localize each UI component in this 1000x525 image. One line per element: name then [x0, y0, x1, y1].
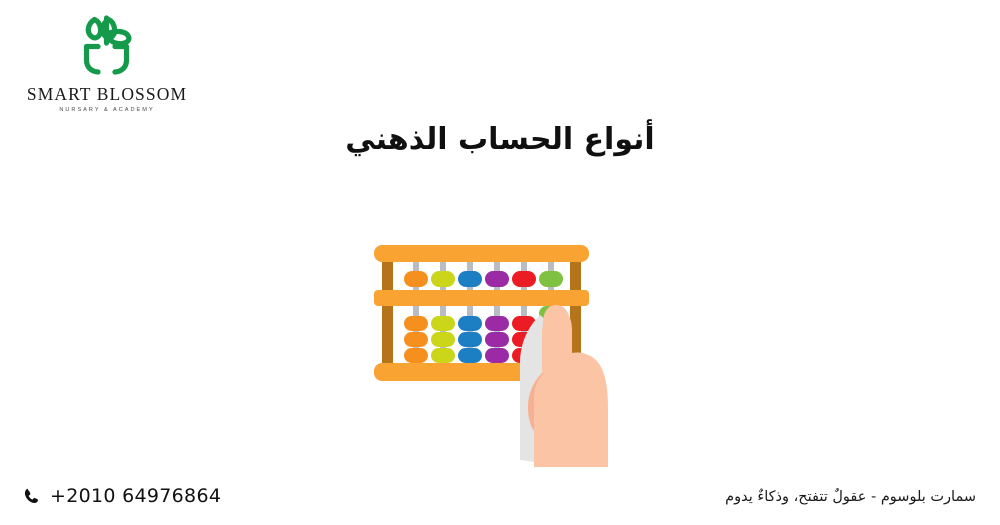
- phone-handset-icon: [22, 487, 41, 506]
- bead-top-col5: [512, 271, 536, 287]
- brand-logo: SMART BLOSSOM NURSARY & ACADEMY: [22, 10, 192, 125]
- bead-top-col6: [539, 271, 563, 287]
- abacus-frame-middle: [374, 290, 589, 306]
- pointing-hand: [520, 305, 608, 467]
- phone-number-text: +2010 64976864: [50, 485, 221, 507]
- bead-top-col1: [404, 271, 428, 287]
- logo-subtitle: NURSARY & ACADEMY: [59, 108, 154, 114]
- bead-top-col3: [458, 271, 482, 287]
- abacus-frame-top: [374, 245, 589, 262]
- abacus-top-beads: [404, 271, 563, 287]
- contact-phone[interactable]: +2010 64976864: [22, 485, 221, 507]
- logo-wordmark: SMART BLOSSOM: [27, 86, 187, 104]
- bead-top-col2: [431, 271, 455, 287]
- sprout-leaves-icon: [68, 10, 146, 84]
- page-title: أنواع الحساب الذهني: [0, 122, 1000, 157]
- bead-top-col4: [485, 271, 509, 287]
- fingertip: [543, 305, 570, 335]
- abacus-post-left: [382, 253, 393, 363]
- brand-tagline: سمارت بلوسوم - عقولٌ تتفتح، وذكاءٌ يدوم: [725, 489, 976, 505]
- abacus-illustration: [360, 235, 640, 475]
